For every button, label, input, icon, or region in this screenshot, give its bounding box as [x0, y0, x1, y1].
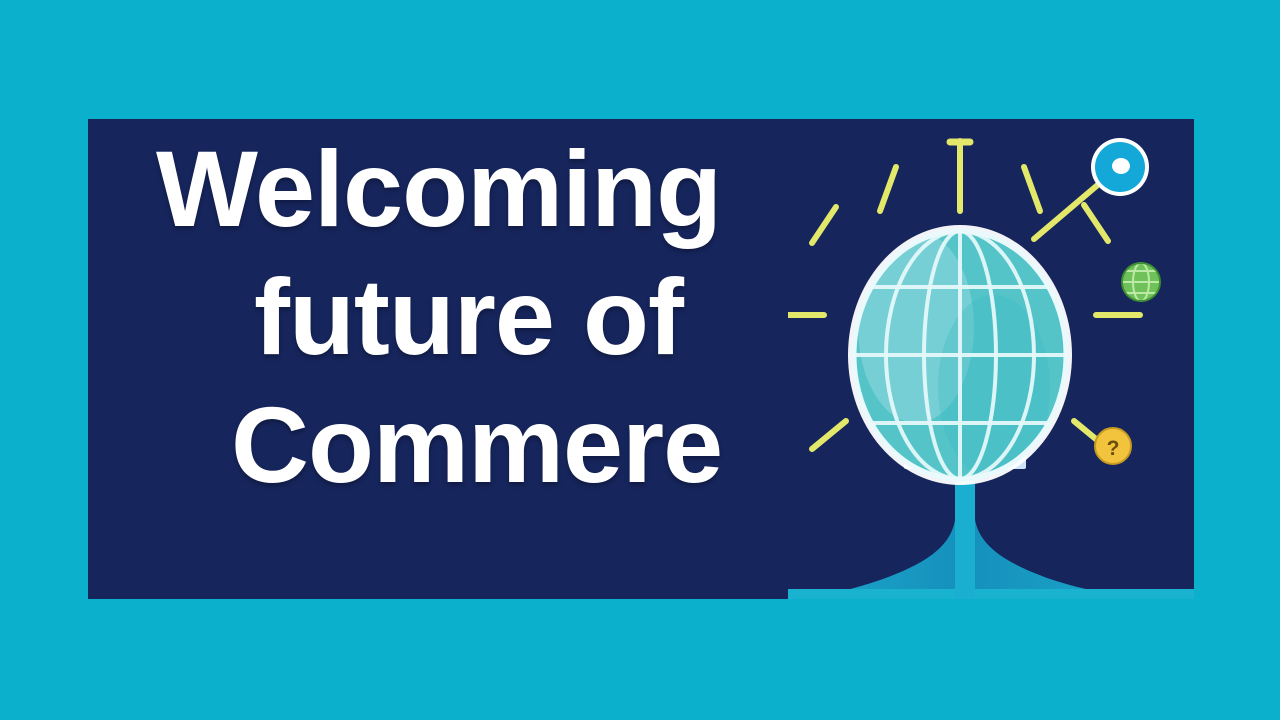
- page-title: Welcoming future of Commere: [156, 125, 876, 509]
- headline-line-2: future of: [156, 253, 876, 381]
- headline-line-1: Welcoming: [156, 125, 876, 253]
- banner-panel: Welcoming future of Commere: [88, 119, 1194, 599]
- svg-text:?: ?: [1107, 437, 1120, 460]
- cyan-location-badge: [1091, 138, 1149, 196]
- pedestal-wings: [788, 509, 1194, 599]
- green-globe-badge: [1122, 263, 1160, 301]
- slide-canvas: Welcoming future of Commere: [0, 0, 1280, 720]
- wireframe-globe: [842, 225, 1078, 485]
- headline-line-3: Commere: [156, 381, 876, 509]
- gold-coin-badge: ?: [1095, 428, 1131, 464]
